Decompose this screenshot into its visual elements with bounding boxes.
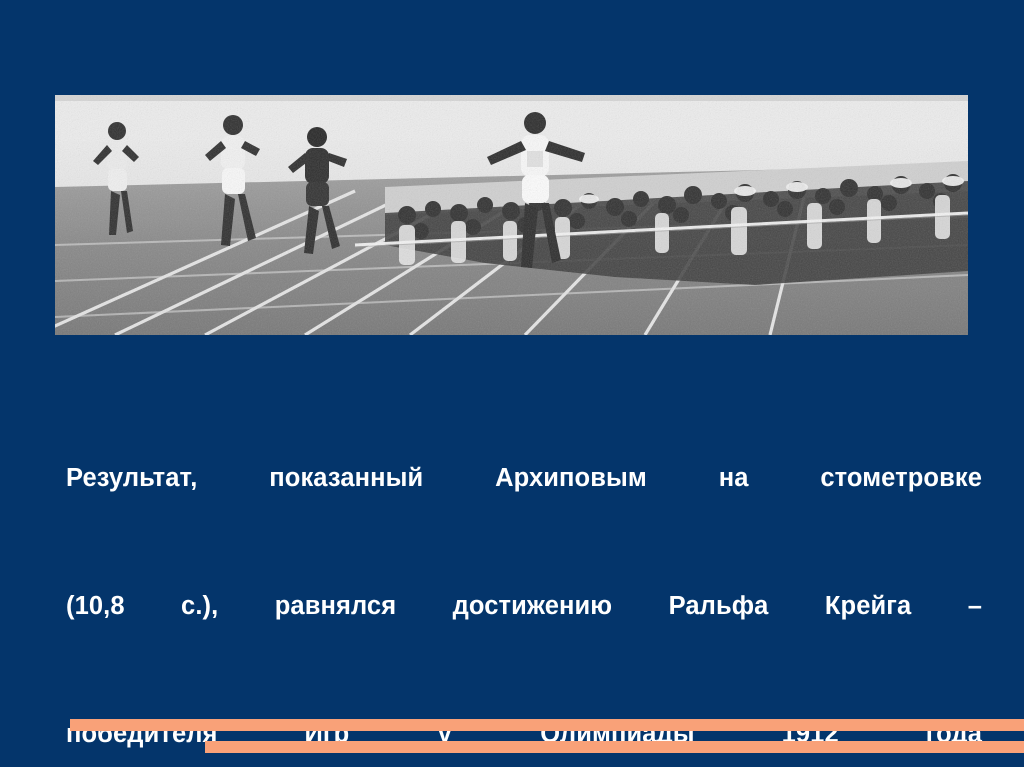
caption-line-2: (10,8 с.), равнялся достижению Ральфа Кр… (66, 590, 982, 654)
accent-bar-lower (205, 741, 1024, 753)
slide-caption: Результат, показанный Архиповым на стоме… (66, 398, 982, 767)
accent-bar-upper (70, 719, 1024, 731)
slide-canvas: Результат, показанный Архиповым на стоме… (0, 0, 1024, 767)
race-photo-illustration (55, 95, 968, 335)
caption-line-1: Результат, показанный Архиповым на стоме… (66, 462, 982, 526)
historic-race-photo (55, 95, 968, 335)
